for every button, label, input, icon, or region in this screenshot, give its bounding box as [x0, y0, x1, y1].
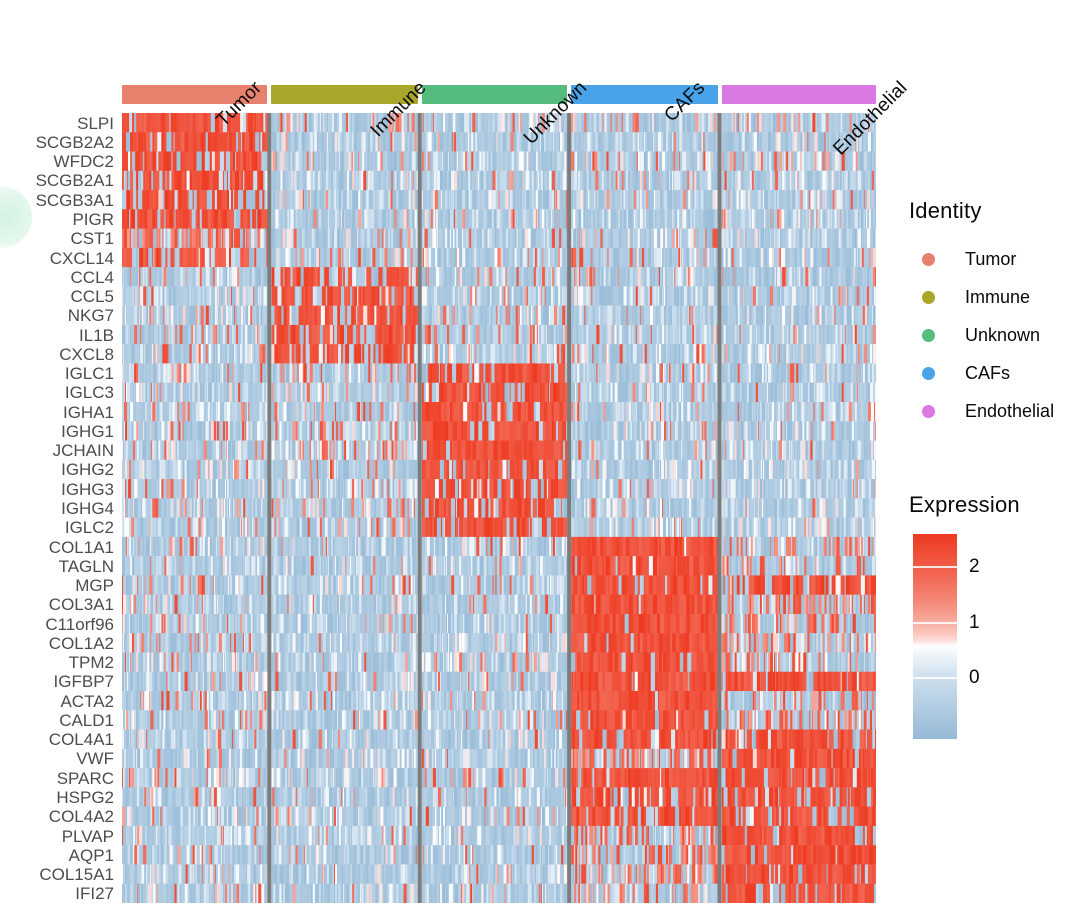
- gene-label-igfbp7: IGFBP7: [54, 673, 114, 690]
- legend-item-tumor[interactable]: Tumor: [909, 240, 1079, 278]
- gene-label-aqp1: AQP1: [69, 847, 114, 864]
- identity-legend-items: TumorImmuneUnknownCAFsEndothelial: [909, 240, 1079, 430]
- legend-item-endothelial[interactable]: Endothelial: [909, 392, 1079, 430]
- gene-label-ifi27: IFI27: [75, 885, 114, 902]
- annotation-segment-unknown: [422, 85, 567, 104]
- gene-label-igha1: IGHA1: [63, 404, 114, 421]
- legend-item-immune[interactable]: Immune: [909, 278, 1079, 316]
- gene-label-tagln: TAGLN: [59, 558, 114, 575]
- gene-label-jchain: JCHAIN: [53, 442, 114, 459]
- gene-label-iglc3: IGLC3: [65, 384, 114, 401]
- gene-label-ccl4: CCL4: [71, 269, 114, 286]
- gene-label-c11orf96: C11orf96: [45, 616, 114, 633]
- gene-label-col3a1: COL3A1: [49, 596, 114, 613]
- gene-label-slpi: SLPI: [77, 115, 114, 132]
- legend-item-label: Immune: [965, 287, 1030, 308]
- gene-label-hspg2: HSPG2: [56, 789, 114, 806]
- identity-legend: Identity TumorImmuneUnknownCAFsEndotheli…: [909, 198, 1079, 430]
- gene-label-ighg2: IGHG2: [61, 461, 114, 478]
- legend-dot-icon: [922, 291, 935, 304]
- gene-row-labels: SLPISCGB2A2WFDC2SCGB2A1SCGB3A1PIGRCST1CX…: [0, 113, 114, 903]
- legend-dot-icon: [922, 367, 935, 380]
- gene-label-acta2: ACTA2: [60, 693, 114, 710]
- gene-label-wfdc2: WFDC2: [54, 153, 114, 170]
- gene-label-ccl5: CCL5: [71, 288, 114, 305]
- colorbar-tickmark: [913, 566, 957, 568]
- legend-dot-icon: [922, 405, 935, 418]
- heatmap-grid: [122, 113, 876, 903]
- gene-label-cxcl14: CXCL14: [50, 250, 114, 267]
- gene-label-plvap: PLVAP: [62, 828, 114, 845]
- expression-legend: Expression 210: [909, 492, 1079, 739]
- gene-label-ighg1: IGHG1: [61, 423, 114, 440]
- gene-label-cald1: CALD1: [59, 712, 114, 729]
- legend-dot-icon: [922, 329, 935, 342]
- gene-label-scgb2a1: SCGB2A1: [36, 172, 114, 189]
- gene-label-col4a1: COL4A1: [49, 731, 114, 748]
- colorbar-tick-label: 0: [969, 667, 980, 689]
- gene-label-sparc: SPARC: [57, 770, 114, 787]
- heatmap-plot: TumorImmuneUnknownCAFsEndothelial SLPISC…: [0, 0, 1080, 911]
- gene-label-col4a2: COL4A2: [49, 808, 114, 825]
- colorbar-tickmark: [913, 622, 957, 624]
- gene-label-col1a2: COL1A2: [49, 635, 114, 652]
- gene-label-tpm2: TPM2: [69, 654, 114, 671]
- legend-item-label: Endothelial: [965, 401, 1054, 422]
- legend-item-unknown[interactable]: Unknown: [909, 316, 1079, 354]
- gene-label-col15a1: COL15A1: [39, 866, 114, 883]
- legend-item-label: Tumor: [965, 249, 1016, 270]
- gene-label-pigr: PIGR: [72, 211, 114, 228]
- annotation-segment-endothelial: [722, 85, 876, 104]
- gene-label-mgp: MGP: [75, 577, 114, 594]
- gene-label-col1a1: COL1A1: [49, 539, 114, 556]
- gene-label-scgb3a1: SCGB3A1: [36, 192, 114, 209]
- gene-label-cst1: CST1: [71, 230, 114, 247]
- gene-label-il1b: IL1B: [79, 327, 114, 344]
- gene-label-nkg7: NKG7: [68, 307, 114, 324]
- legend-dot-icon: [922, 253, 935, 266]
- colorbar-tick-label: 1: [969, 612, 980, 634]
- colorbar-gradient: [913, 534, 957, 739]
- gene-label-ighg3: IGHG3: [61, 481, 114, 498]
- gene-label-ighg4: IGHG4: [61, 500, 114, 517]
- legend-item-label: Unknown: [965, 325, 1040, 346]
- identity-legend-title: Identity: [909, 198, 1079, 224]
- colorbar-tick-label: 2: [969, 556, 980, 578]
- gene-label-cxcl8: CXCL8: [59, 346, 114, 363]
- expression-legend-title: Expression: [909, 492, 1079, 518]
- gene-label-vwf: VWF: [76, 750, 114, 767]
- legend-item-cafs[interactable]: CAFs: [909, 354, 1079, 392]
- gene-label-scgb2a2: SCGB2A2: [36, 134, 114, 151]
- gene-label-iglc1: IGLC1: [65, 365, 114, 382]
- colorbar-tickmark: [913, 677, 957, 679]
- colorbar-container: 210: [909, 534, 1079, 739]
- gene-label-iglc2: IGLC2: [65, 519, 114, 536]
- legend-item-label: CAFs: [965, 363, 1010, 384]
